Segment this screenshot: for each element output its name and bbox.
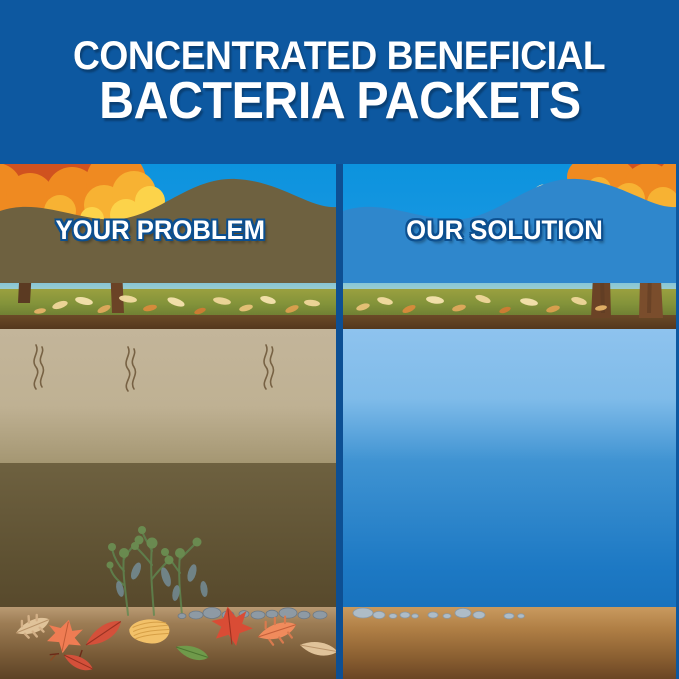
panel-label-right: OUR SOLUTION bbox=[406, 215, 603, 246]
panel-divider bbox=[336, 163, 343, 679]
panel-label-left: YOUR PROBLEM bbox=[56, 215, 265, 246]
rock-icon-right bbox=[343, 601, 676, 623]
panel-our-solution: OUR SOLUTION bbox=[343, 163, 676, 679]
header-title-line2: BACTERIA PACKETS bbox=[99, 76, 581, 126]
leaf-icon-litter-left bbox=[0, 611, 336, 679]
header-banner: CONCENTRATED BENEFICIAL BACTERIA PACKETS bbox=[0, 0, 679, 164]
leaf-icon-ground-right bbox=[343, 289, 676, 319]
infographic-stage: CONCENTRATED BENEFICIAL BACTERIA PACKETS bbox=[0, 0, 679, 679]
leaf-icon-ground-left bbox=[0, 289, 336, 319]
aquatic-weed-icon-left bbox=[0, 515, 336, 615]
panel-your-problem: YOUR PROBLEM bbox=[0, 163, 336, 679]
header-title-line1: CONCENTRATED BENEFICIAL bbox=[73, 37, 605, 76]
odor-squiggle-icon-left bbox=[0, 341, 336, 401]
